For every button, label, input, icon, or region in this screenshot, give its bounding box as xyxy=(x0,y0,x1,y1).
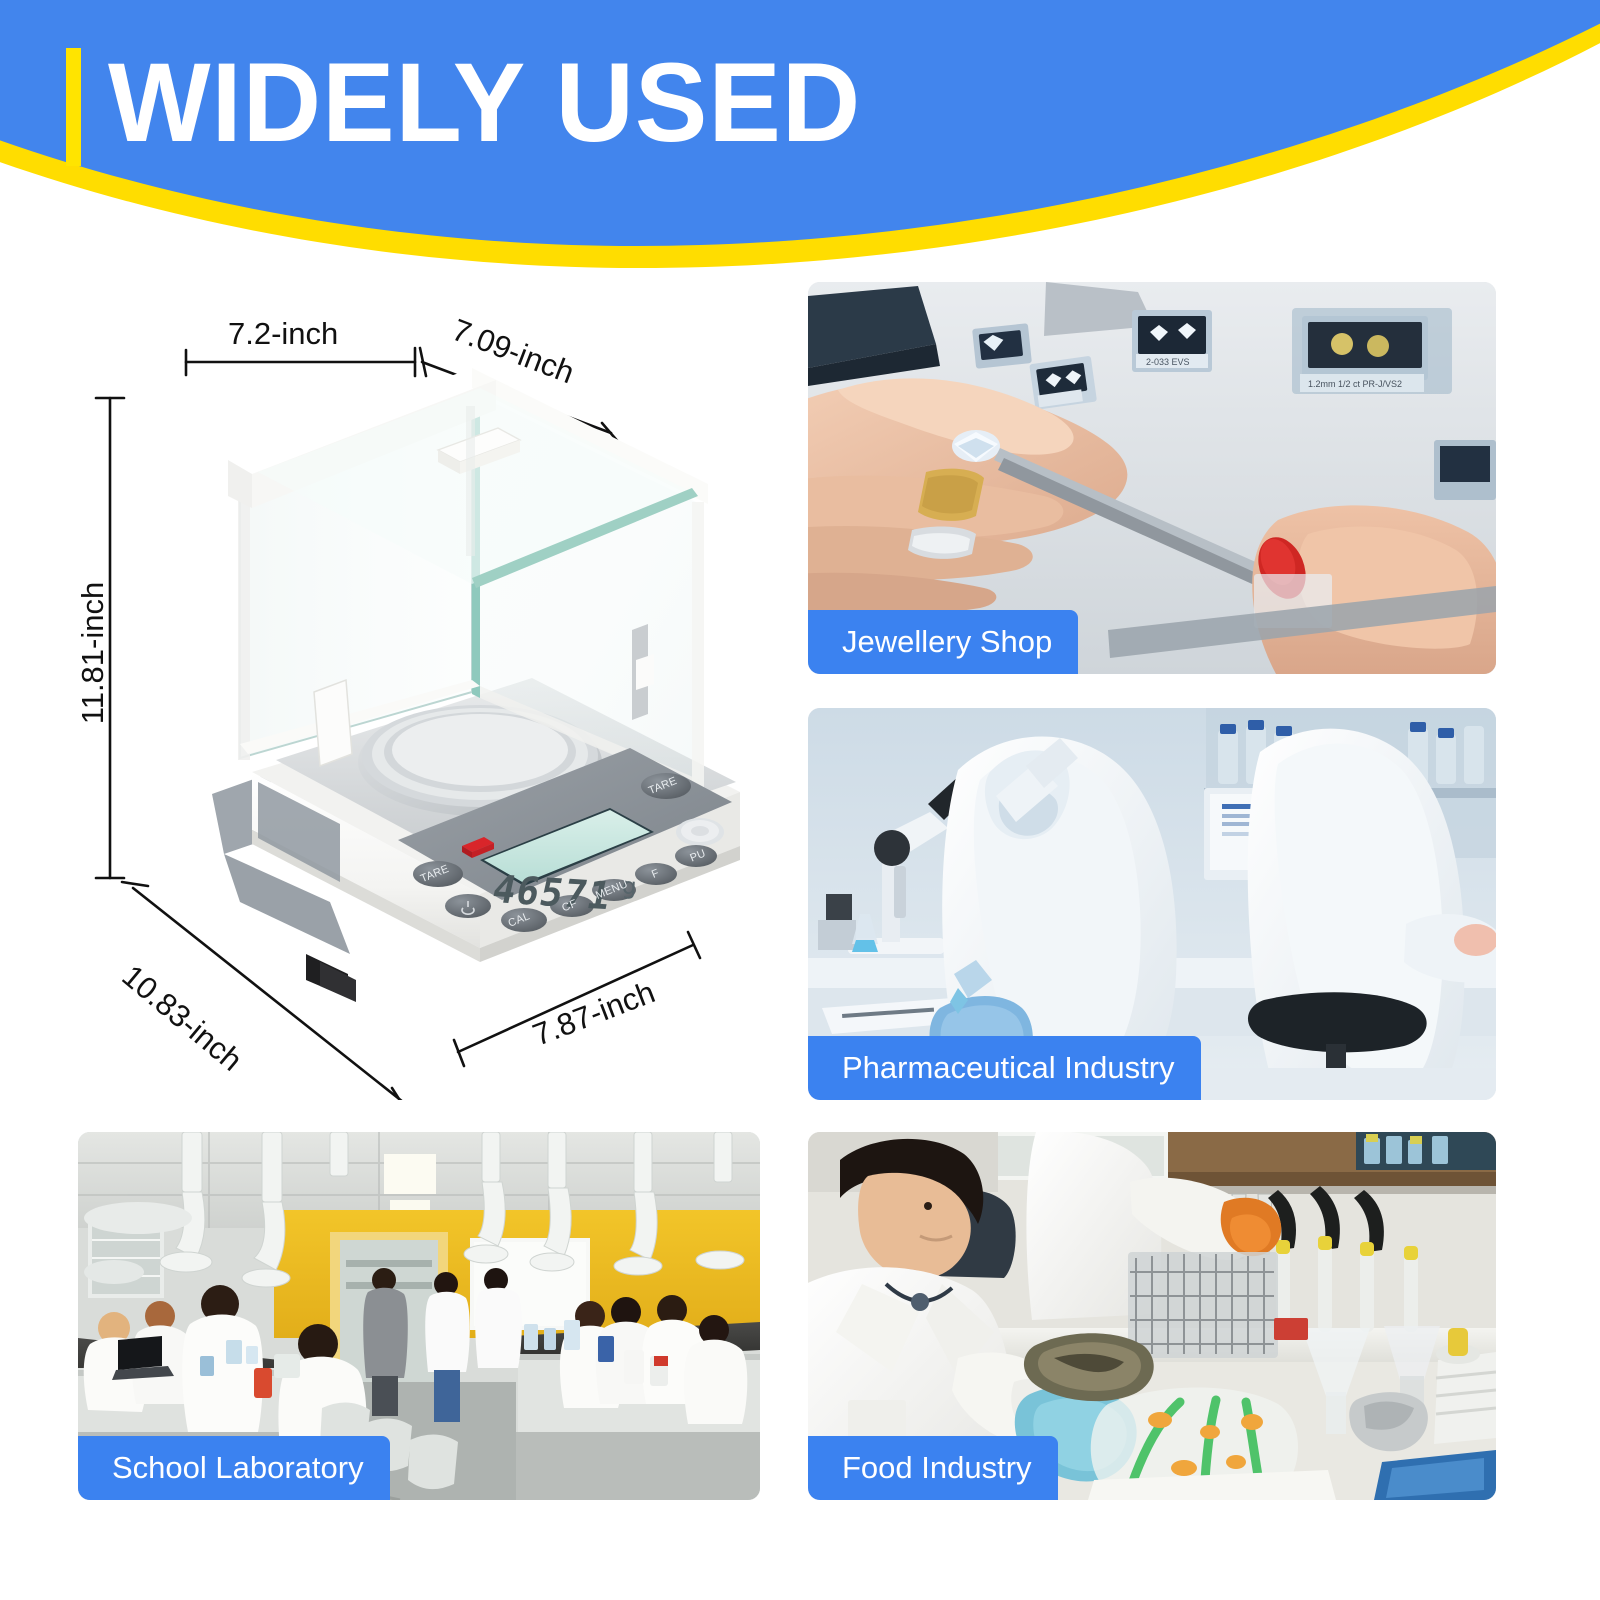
use-case-panel-school: School Laboratory xyxy=(78,1132,760,1500)
dimension-label-width-top: 7.2-inch xyxy=(228,316,338,352)
analytical-balance-illustration: 46571 g TARE TARE CAL CF MENU F PU xyxy=(180,362,740,1022)
title-accent-bar xyxy=(66,48,81,166)
svg-text:2-033 EVS: 2-033 EVS xyxy=(1146,357,1190,367)
svg-text:1.2mm 1/2 ct PR-J/VS2: 1.2mm 1/2 ct PR-J/VS2 xyxy=(1308,379,1402,389)
product-dimension-diagram: 7.2-inch 7.09-inch 11.81-inch 10.83-inch… xyxy=(60,290,790,1100)
header-banner: WIDELY USED xyxy=(0,0,1600,280)
dimension-label-height: 11.81-inch xyxy=(75,582,111,724)
panel-badge-jewellery: Jewellery Shop xyxy=(808,610,1078,674)
page-title: WIDELY USED xyxy=(108,38,861,168)
infographic-root: WIDELY USED xyxy=(0,0,1600,1600)
panel-badge-pharmaceutical: Pharmaceutical Industry xyxy=(808,1036,1201,1100)
use-case-panel-jewellery: 2-033 EVS 1.2mm 1/2 ct PR-J/VS2 xyxy=(808,282,1496,674)
use-case-panel-food: Food Industry xyxy=(808,1132,1496,1500)
use-case-panel-pharmaceutical: Pharmaceutical Industry xyxy=(808,708,1496,1100)
panel-badge-school: School Laboratory xyxy=(78,1436,390,1500)
panel-badge-food: Food Industry xyxy=(808,1436,1058,1500)
